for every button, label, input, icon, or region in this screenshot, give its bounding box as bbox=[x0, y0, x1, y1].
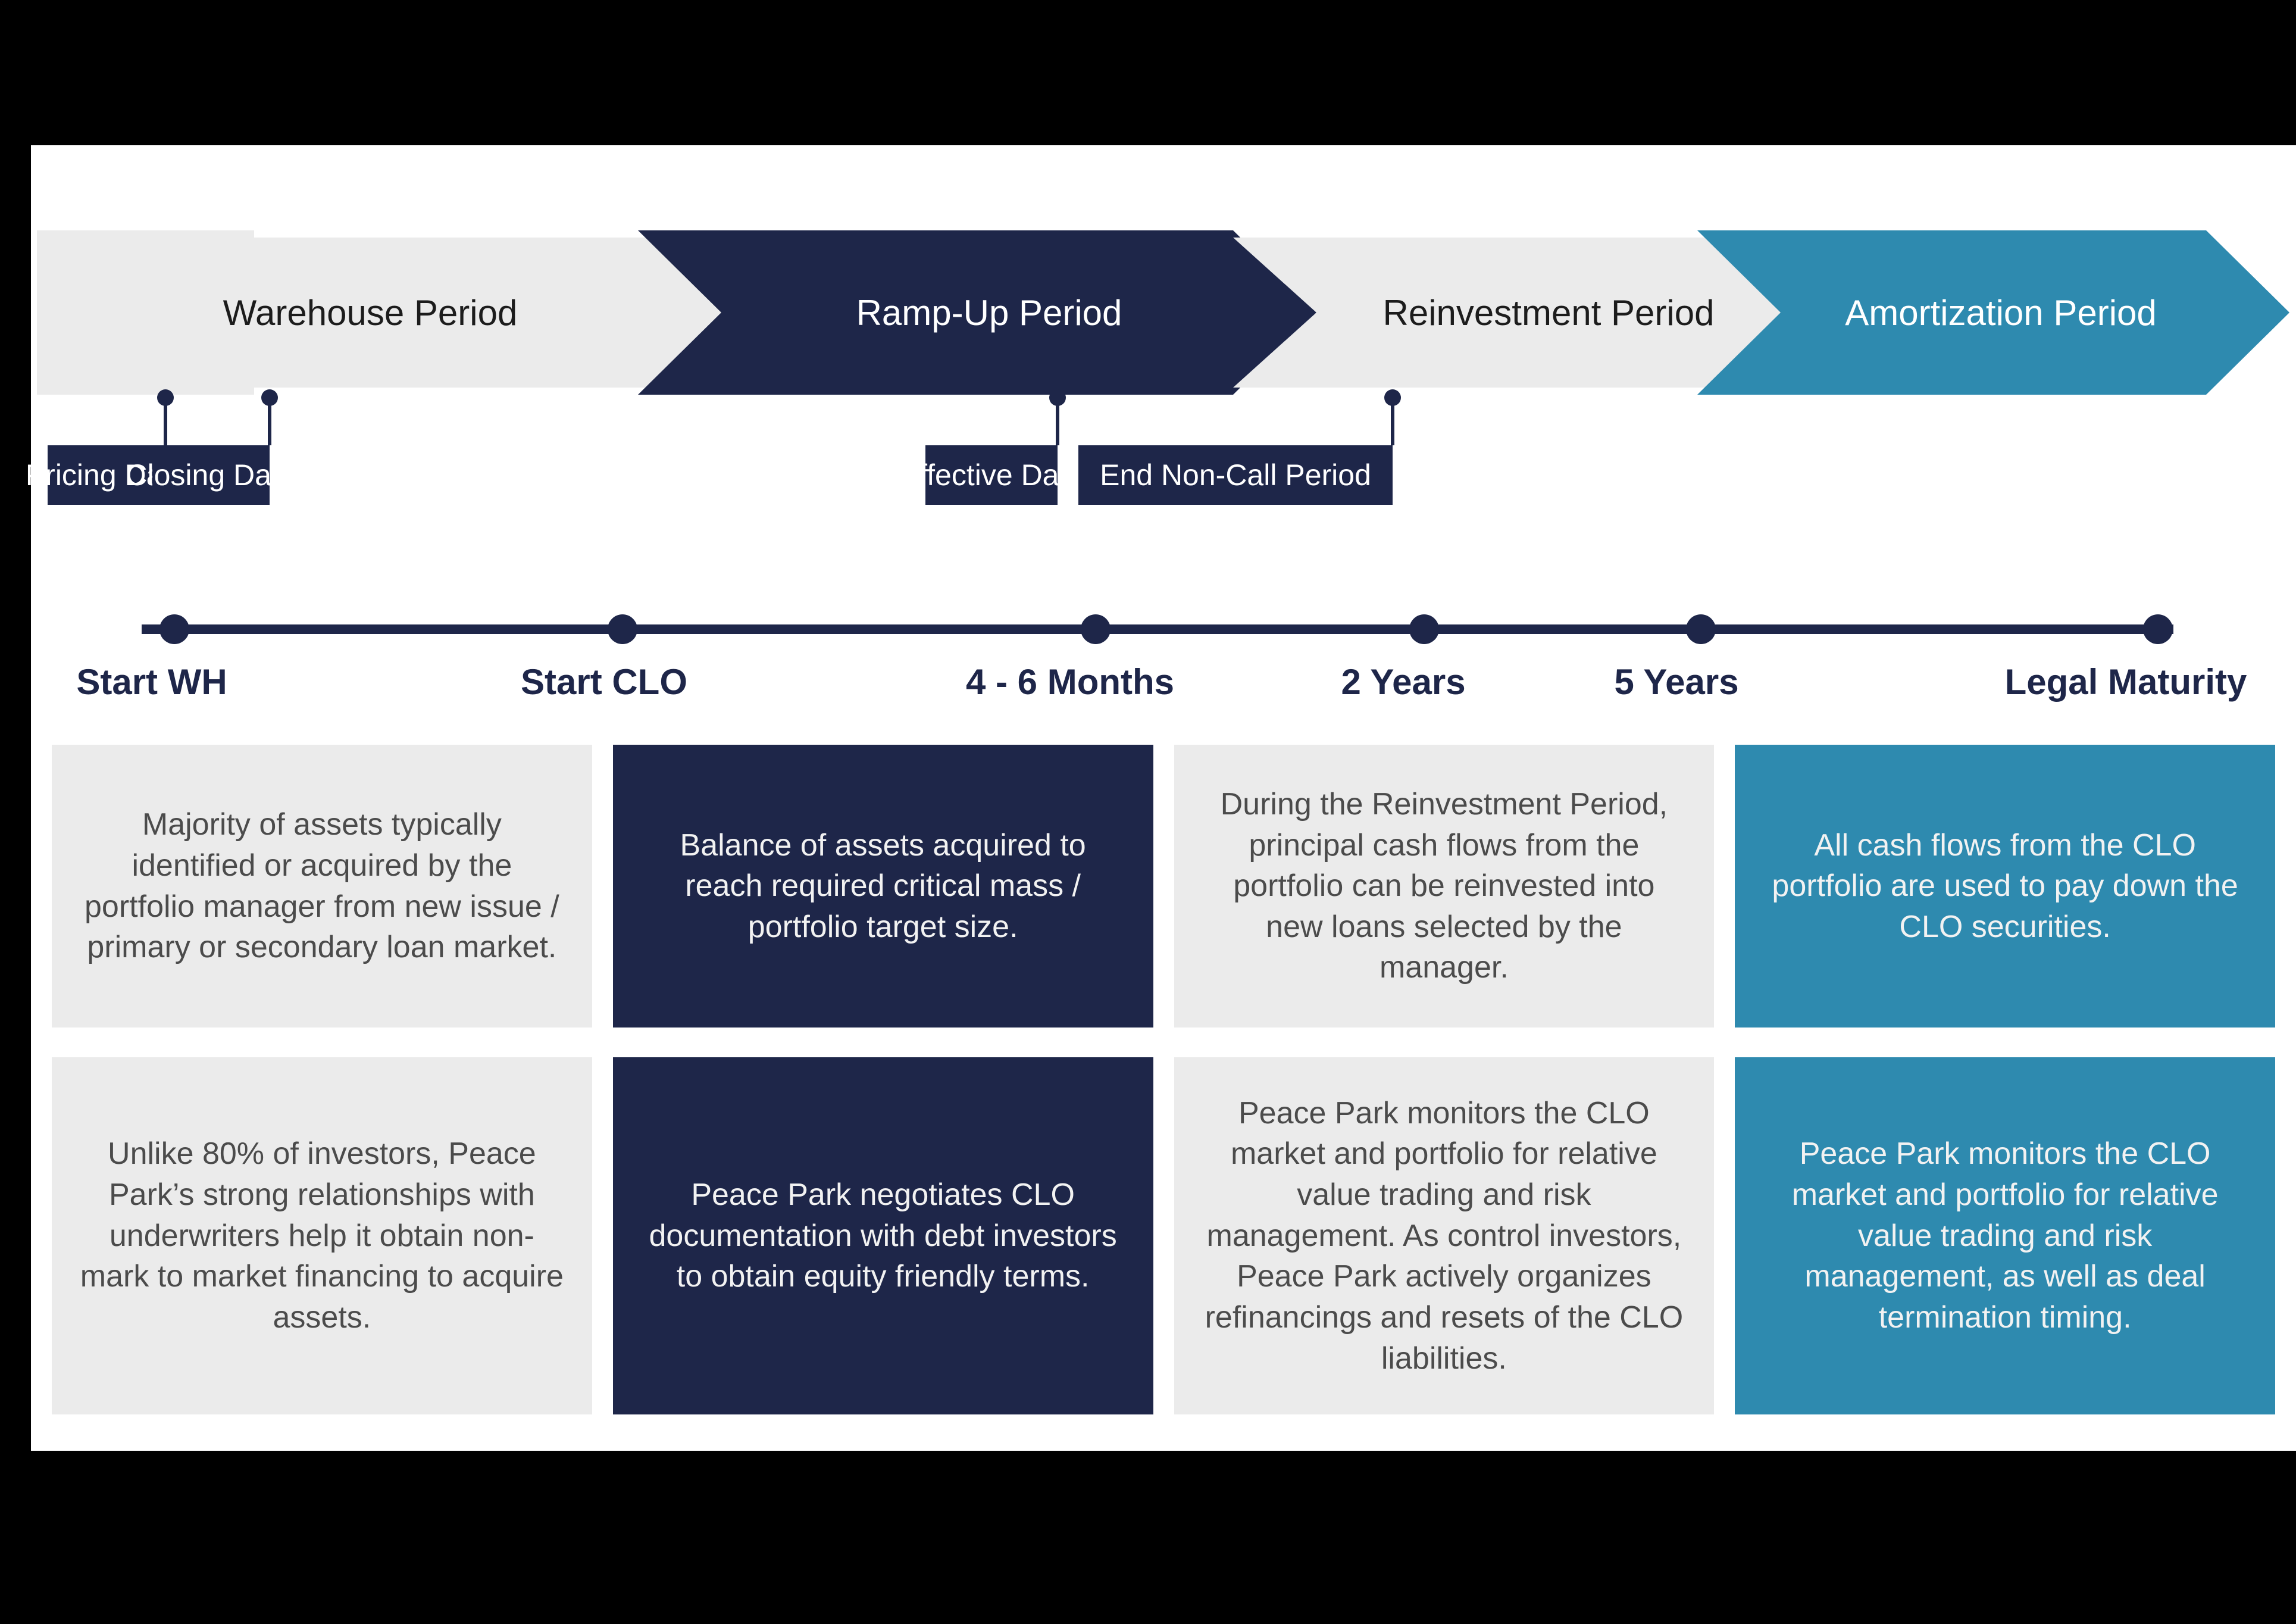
milestone-label: End Non-Call Period bbox=[1100, 458, 1371, 492]
slide-canvas: Warehouse Period Ramp-Up Period Reinvest… bbox=[31, 145, 2296, 1451]
card-reinvestment-secondary: Peace Park monitors the CLO market and p… bbox=[1174, 1057, 1715, 1414]
timeline-dot-4-6-months bbox=[1081, 614, 1111, 644]
card-warehouse-secondary: Unlike 80% of investors, Peace Park’s st… bbox=[52, 1057, 592, 1414]
timeline-dot-start-wh bbox=[159, 614, 189, 644]
card-ramp-up-secondary: Peace Park negotiates CLO documentation … bbox=[613, 1057, 1153, 1414]
card-warehouse-primary: Majority of assets typically identified … bbox=[52, 745, 592, 1028]
card-amortization-primary: All cash flows from the CLO portfolio ar… bbox=[1735, 745, 2275, 1028]
timeline-line bbox=[142, 624, 2173, 634]
milestone-end-non-call-period: End Non-Call Period bbox=[31, 383, 2296, 502]
card-row-bottom: Unlike 80% of investors, Peace Park’s st… bbox=[31, 1057, 2296, 1414]
timeline-label-2-years: 2 Years bbox=[1341, 661, 1465, 702]
timeline-label-5-years: 5 Years bbox=[1614, 661, 1738, 702]
card-row-top: Majority of assets typically identified … bbox=[31, 745, 2296, 1028]
timeline-dot-5-years bbox=[1686, 614, 1716, 644]
card-amortization-secondary: Peace Park monitors the CLO market and p… bbox=[1735, 1057, 2275, 1414]
timeline-label-start-wh: Start WH bbox=[76, 661, 227, 702]
timeline-axis: Start WH Start CLO 4 - 6 Months 2 Years … bbox=[31, 593, 2296, 754]
timeline-label-start-clo: Start CLO bbox=[521, 661, 687, 702]
timeline-label-legal-maturity: Legal Maturity bbox=[2005, 661, 2247, 702]
timeline-dot-2-years bbox=[1409, 614, 1439, 644]
timeline-dot-start-clo bbox=[608, 614, 637, 644]
card-ramp-up-primary: Balance of assets acquired to reach requ… bbox=[613, 745, 1153, 1028]
phase-shape-ramp-up bbox=[638, 230, 1316, 395]
milestone-pill-end-non-call-period: End Non-Call Period bbox=[1078, 445, 1393, 505]
timeline-label-4-6-months: 4 - 6 Months bbox=[966, 661, 1174, 702]
milestone-stem bbox=[1391, 398, 1394, 445]
phase-shape-amortization bbox=[1697, 230, 2289, 395]
timeline-dot-legal-maturity bbox=[2143, 614, 2173, 644]
slide-frame: Warehouse Period Ramp-Up Period Reinvest… bbox=[0, 0, 2296, 1624]
phase-banner: Warehouse Period Ramp-Up Period Reinvest… bbox=[31, 230, 2296, 395]
card-reinvestment-primary: During the Reinvestment Period, principa… bbox=[1174, 745, 1715, 1028]
